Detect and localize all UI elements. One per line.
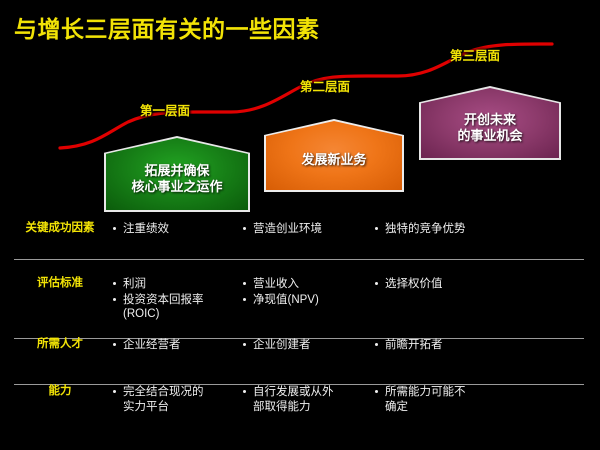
bullet-item: 独特的竞争优势 (374, 222, 502, 237)
bullet-item: 利润 (112, 277, 240, 292)
bullet-item: 注重绩效 (112, 222, 240, 237)
bullet-item: 所需能力可能不确定 (374, 385, 502, 414)
cell-r1-c2: 营造创业环境 (242, 222, 370, 238)
cell-r1-c1: 注重绩效 (112, 222, 240, 238)
bullet-item: 自行发展或从外部取得能力 (242, 385, 370, 414)
bullet-item: 营造创业环境 (242, 222, 370, 237)
purple-pentagon-label-line2: 的事业机会 (457, 128, 522, 143)
purple-pentagon-label-line1: 开创未来 (464, 112, 516, 127)
cell-r1-c3: 独特的竞争优势 (374, 222, 502, 238)
cell-r2-c3: 选择权价值 (374, 277, 502, 293)
cell-r3-c3: 前瞻开拓者 (374, 338, 502, 354)
bullet-item: 前瞻开拓者 (374, 338, 502, 353)
bullet-item: 选择权价值 (374, 277, 502, 292)
row-label-key-success-factors: 关键成功因素 (12, 222, 108, 236)
green-pentagon-label-line1: 拓展并确保 (144, 163, 209, 178)
cell-r2-c1: 利润投资资本回报率(ROIC) (112, 277, 240, 323)
row-label-required-talent: 所需人才 (12, 338, 108, 352)
cell-r3-c1: 企业经营者 (112, 338, 240, 354)
row-label-evaluation-criteria: 评估标准 (12, 277, 108, 291)
cell-r4-c3: 所需能力可能不确定 (374, 385, 502, 415)
purple-pentagon-label: 开创未来 的事业机会 (457, 102, 522, 145)
bullet-item: 企业创建者 (242, 338, 370, 353)
row-divider (14, 259, 584, 260)
orange-pentagon-label-line1: 发展新业务 (301, 152, 366, 167)
bullet-item: 投资资本回报率(ROIC) (112, 293, 240, 322)
horizon-label-3: 第三层面 (450, 45, 500, 64)
orange-pentagon-label: 发展新业务 (301, 142, 366, 168)
cell-r4-c1: 完全结合现况的实力平台 (112, 385, 240, 415)
green-pentagon-label-line2: 核心事业之运作 (131, 179, 222, 194)
slide-canvas: 与增长三层面有关的一些因素 第一层面 第二层面 第三层面 拓展并确保 核心事业之… (0, 0, 600, 450)
comparison-matrix: 关键成功因素 注重绩效 营造创业环境 独特的竞争优势 评估标准 利润投资资本回报… (0, 214, 600, 450)
horizon-label-1: 第一层面 (140, 100, 190, 119)
cell-r3-c2: 企业创建者 (242, 338, 370, 354)
cell-r2-c2: 营业收入净现值(NPV) (242, 277, 370, 308)
horizon-label-2: 第二层面 (300, 76, 350, 95)
bullet-item: 企业经营者 (112, 338, 240, 353)
bullet-item: 营业收入 (242, 277, 370, 292)
bullet-item: 净现值(NPV) (242, 293, 370, 308)
cell-r4-c2: 自行发展或从外部取得能力 (242, 385, 370, 415)
green-pentagon-label: 拓展并确保 核心事业之运作 (131, 153, 222, 196)
bullet-item: 完全结合现况的实力平台 (112, 385, 240, 414)
row-label-capability: 能力 (12, 385, 108, 399)
